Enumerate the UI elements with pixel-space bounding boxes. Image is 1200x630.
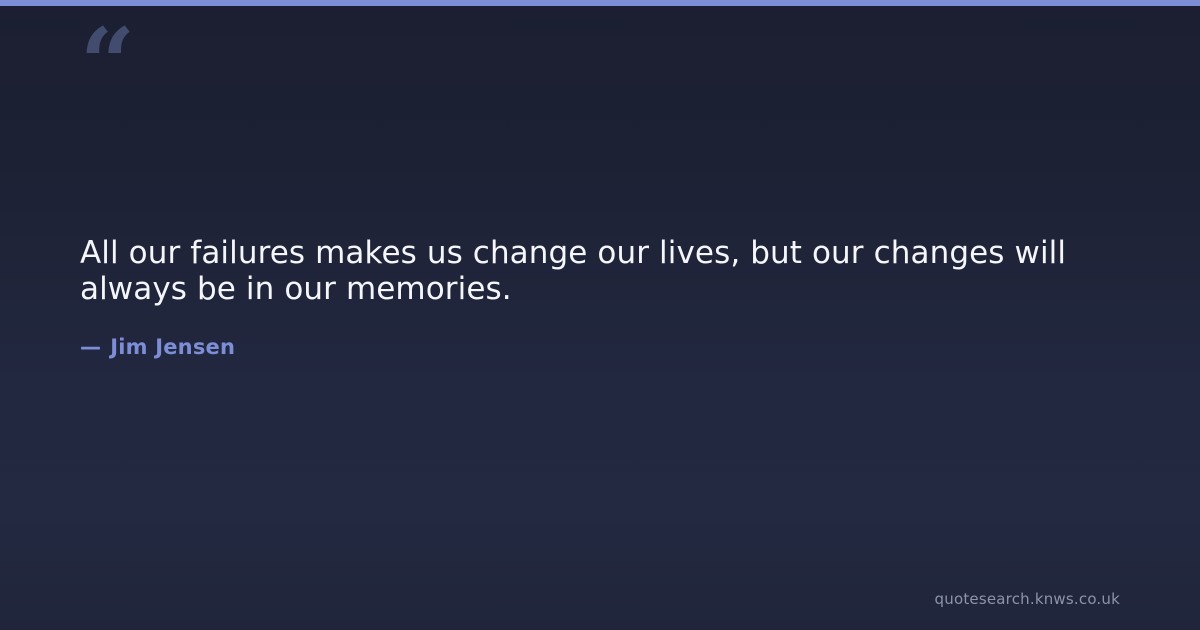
author-name: Jim Jensen <box>110 335 235 359</box>
attribution-dash: — <box>80 335 101 359</box>
quote-text: All our failures makes us change our liv… <box>80 236 1110 308</box>
quote-attribution: —Jim Jensen <box>80 335 1110 359</box>
quote-card: “ All our failures makes us change our l… <box>0 0 1200 630</box>
open-quote-icon: “ <box>80 16 133 112</box>
top-accent-bar <box>0 0 1200 6</box>
quote-content: All our failures makes us change our liv… <box>80 236 1110 359</box>
site-watermark: quotesearch.knws.co.uk <box>935 590 1120 608</box>
